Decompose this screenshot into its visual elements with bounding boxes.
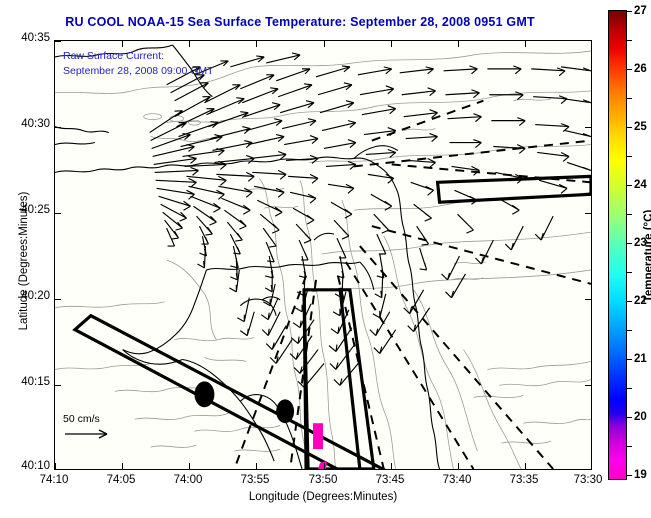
- x-axis-title: Longitude (Degrees:Minutes): [54, 491, 592, 503]
- y-tick: [55, 41, 61, 42]
- y-tick: [55, 213, 61, 214]
- colorbar-tick: [627, 243, 632, 244]
- x-tick-top: [458, 41, 459, 47]
- map-graphics: [55, 41, 591, 469]
- y-tick-right: [585, 213, 591, 214]
- temperature-colorbar: [608, 10, 627, 480]
- y-tick-right: [585, 127, 591, 128]
- y-tick: [55, 385, 61, 386]
- y-tick: [55, 127, 61, 128]
- colorbar-tick: [627, 417, 632, 418]
- x-tick-label: 73:55: [241, 474, 270, 486]
- colorbar-label: 25: [634, 121, 647, 133]
- colorbar-tick: [627, 156, 632, 157]
- x-tick: [324, 463, 325, 469]
- colorbar-label: 20: [634, 411, 647, 423]
- x-tick: [391, 463, 392, 469]
- x-tick-top: [189, 41, 190, 47]
- colorbar-tick: [627, 40, 632, 41]
- x-tick-top: [525, 41, 526, 47]
- colorbar-tick: [627, 214, 632, 215]
- y-axis-title: Latitude (Degrees:Minutes): [18, 151, 30, 371]
- colorbar-tick: [627, 127, 632, 128]
- colorbar-label: 26: [634, 63, 647, 75]
- colorbar-tick: [627, 272, 632, 273]
- colorbar-tick: [627, 98, 632, 99]
- colorbar-label: 24: [634, 179, 647, 191]
- x-tick: [189, 463, 190, 469]
- x-tick-label: 73:35: [510, 474, 539, 486]
- colorbar-tick: [627, 185, 632, 186]
- figure-title: RU COOL NOAA-15 Sea Surface Temperature:…: [0, 15, 600, 29]
- colorbar-tick: [627, 330, 632, 331]
- colorbar-tick: [627, 11, 632, 12]
- figure-root: RU COOL NOAA-15 Sea Surface Temperature:…: [0, 0, 651, 518]
- x-tick: [458, 463, 459, 469]
- bathymetry-contours: [55, 51, 591, 469]
- colorbar-title: Temperature (°C): [643, 196, 651, 316]
- velocity-scale-key: 50 cm/s: [63, 413, 115, 443]
- y-tick-right: [585, 299, 591, 300]
- current-vectors: [150, 53, 591, 387]
- y-tick: [55, 469, 61, 470]
- x-tick: [256, 463, 257, 469]
- x-tick-label: 74:05: [107, 474, 136, 486]
- station-markers: [194, 381, 294, 423]
- shipping-lane-rectangles: [75, 176, 591, 469]
- colorbar-tick: [627, 388, 632, 389]
- x-tick: [525, 463, 526, 469]
- x-tick-label: 74:10: [40, 474, 69, 486]
- x-tick-label: 73:45: [376, 474, 405, 486]
- colorbar-tick: [627, 359, 632, 360]
- y-tick: [55, 299, 61, 300]
- y-tick-right: [585, 385, 591, 386]
- colorbar-tick: [627, 301, 632, 302]
- colorbar-label: 19: [634, 469, 647, 481]
- x-tick: [122, 463, 123, 469]
- colorbar-label: 27: [634, 5, 647, 17]
- x-tick: [591, 463, 592, 469]
- x-tick-label: 73:40: [443, 474, 472, 486]
- scale-arrow-icon: [63, 428, 115, 440]
- colorbar-label: 21: [634, 353, 647, 365]
- x-tick-top: [391, 41, 392, 47]
- colorbar-tick: [627, 475, 632, 476]
- colorbar-tick: [627, 446, 632, 447]
- scale-key-label: 50 cm/s: [63, 413, 115, 425]
- x-tick-label: 73:50: [309, 474, 338, 486]
- x-tick-top: [324, 41, 325, 47]
- x-tick-top: [122, 41, 123, 47]
- x-tick-label: 74:00: [174, 474, 203, 486]
- colorbar-tick: [627, 69, 632, 70]
- map-plot-area[interactable]: Raw Surface Current: September 28, 2008 …: [54, 40, 592, 470]
- x-tick-label: 73:30: [574, 474, 603, 486]
- x-tick-top: [256, 41, 257, 47]
